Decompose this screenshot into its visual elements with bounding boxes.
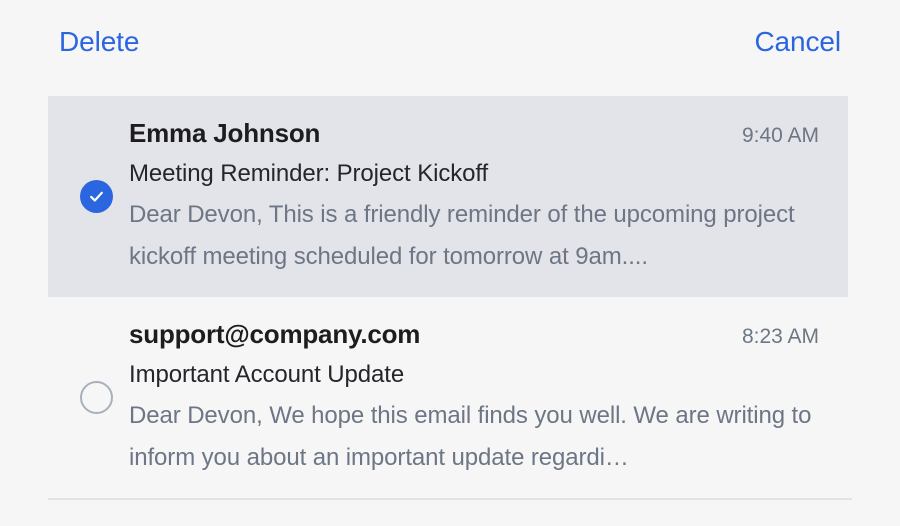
email-list-item-1[interactable]: support@company.com 8:23 AM Important Ac… xyxy=(48,297,848,498)
email-sender: support@company.com xyxy=(129,317,420,351)
email-content: Emma Johnson 9:40 AM Meeting Reminder: P… xyxy=(129,116,848,278)
selection-toolbar: Delete Cancel xyxy=(0,0,900,84)
email-content: support@company.com 8:23 AM Important Ac… xyxy=(129,317,848,479)
email-subject: Important Account Update xyxy=(129,356,819,393)
email-preview: Dear Devon, This is a friendly reminder … xyxy=(129,194,819,278)
email-header-row: Emma Johnson 9:40 AM xyxy=(129,116,819,153)
cancel-button[interactable]: Cancel xyxy=(754,26,841,58)
email-timestamp: 9:40 AM xyxy=(742,119,819,153)
email-header-row: support@company.com 8:23 AM xyxy=(129,317,819,354)
delete-button[interactable]: Delete xyxy=(59,26,139,58)
email-subject: Meeting Reminder: Project Kickoff xyxy=(129,155,819,192)
email-preview: Dear Devon, We hope this email finds you… xyxy=(129,395,819,479)
check-circle-filled-icon[interactable] xyxy=(80,180,113,213)
email-list: Emma Johnson 9:40 AM Meeting Reminder: P… xyxy=(0,96,900,500)
circle-outline-icon[interactable] xyxy=(80,381,113,414)
email-list-item-0[interactable]: Emma Johnson 9:40 AM Meeting Reminder: P… xyxy=(48,96,848,297)
email-timestamp: 8:23 AM xyxy=(742,320,819,354)
email-selection-screen: Delete Cancel Emma Johnson 9:40 AM Meeti… xyxy=(0,0,900,526)
list-divider xyxy=(48,498,852,500)
email-sender: Emma Johnson xyxy=(129,116,320,150)
